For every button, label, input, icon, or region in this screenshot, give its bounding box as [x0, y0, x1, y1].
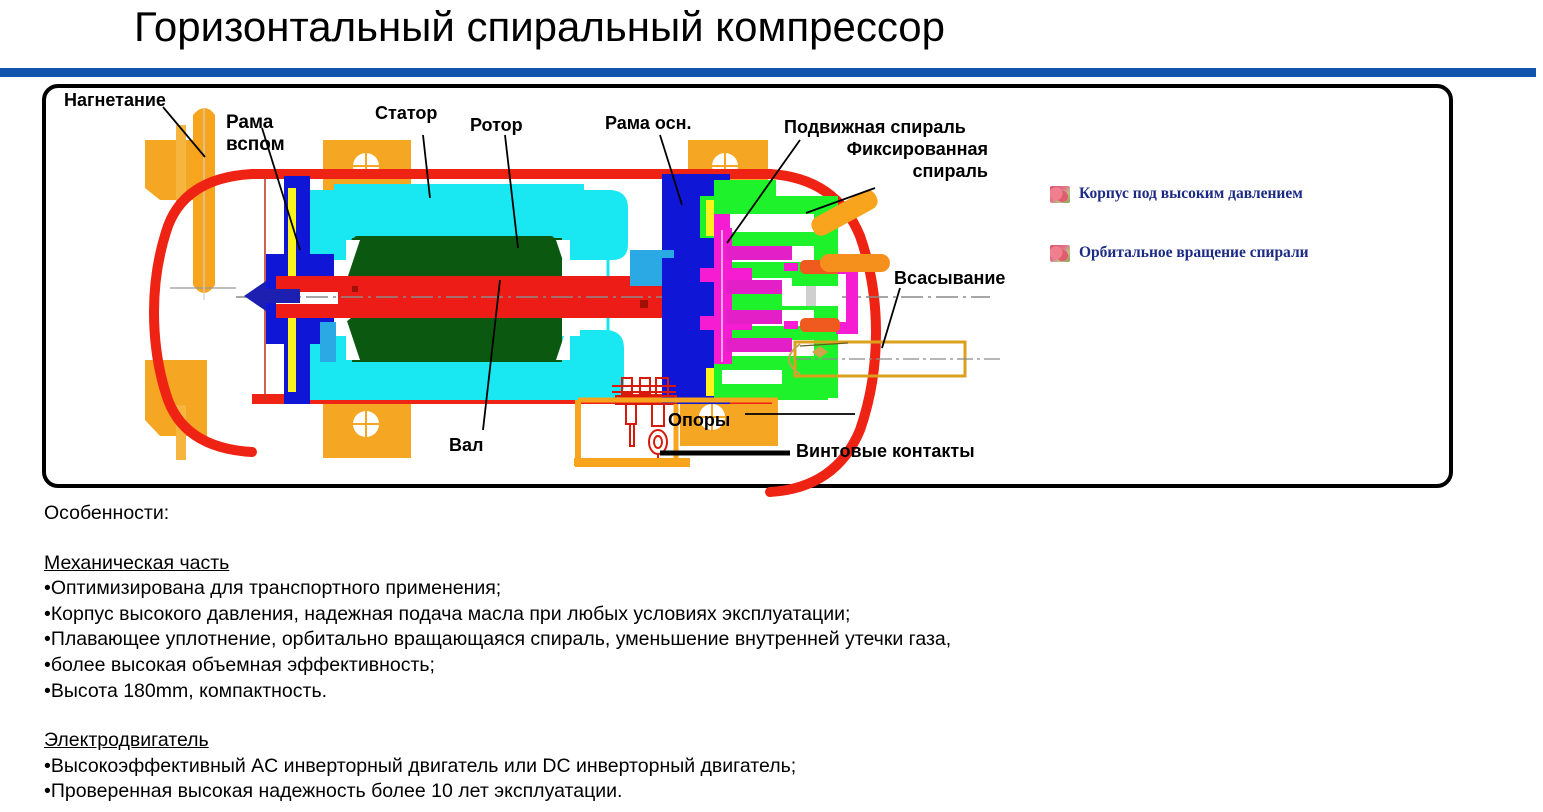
flower-bullet-icon: [1050, 245, 1070, 262]
label-supports: Опоры: [668, 410, 730, 430]
feature-item: •Оптимизирована для транспортного примен…: [44, 576, 1144, 602]
label-shaft: Вал: [449, 435, 483, 455]
slide-page: Горизонтальный спиральный компрессор: [0, 0, 1543, 812]
features-subheading-motor: Электродвигатель: [44, 728, 1144, 754]
legend-label-orbital-scroll-motion: Орбитальное вращение спирали: [1079, 244, 1309, 262]
features-subheading-mechanical: Механическая часть: [44, 551, 1144, 577]
label-aux-frame-line2: вспом: [226, 134, 285, 155]
label-main-frame: Рама осн.: [605, 113, 692, 133]
legend-label-high-pressure-shell: Корпус под высоким давлением: [1079, 185, 1303, 203]
label-discharge: Нагнетание: [64, 90, 166, 110]
page-title: Горизонтальный спиральный компрессор: [134, 0, 1334, 58]
feature-item: •Плавающее уплотнение, орбитально вращаю…: [44, 627, 1144, 653]
label-aux-frame-line1: Рама: [226, 112, 273, 133]
spacer: [44, 527, 1144, 551]
legend-item-orbital-scroll-motion: Орбитальное вращение спирали: [1050, 244, 1309, 262]
label-stator: Статор: [375, 103, 437, 123]
label-screw-contacts: Винтовые контакты: [796, 441, 975, 461]
label-rotor: Ротор: [470, 115, 523, 135]
features-block: Особенности: Механическая часть •Оптимиз…: [44, 501, 1144, 805]
label-suction: Всасывание: [894, 268, 1005, 288]
feature-item: •более высокая объемная эффективность;: [44, 653, 1144, 679]
feature-item: •Высота 180mm, компактность.: [44, 679, 1144, 705]
title-underline-bar: [0, 68, 1536, 77]
label-orbiting-scroll: Подвижная спираль: [784, 117, 966, 137]
spacer: [44, 704, 1144, 728]
label-fixed-scroll-line2: спираль: [742, 161, 988, 181]
legend-item-high-pressure-shell: Корпус под высоким давлением: [1050, 185, 1303, 203]
feature-item: •Корпус высокого давления, надежная пода…: [44, 602, 1144, 628]
feature-item: •Высокоэффективный AC инверторный двигат…: [44, 754, 1144, 780]
feature-item: •Проверенная высокая надежность более 10…: [44, 779, 1144, 805]
label-fixed-scroll-line1: Фиксированная: [742, 139, 988, 159]
flower-bullet-icon: [1050, 186, 1070, 203]
features-heading: Особенности:: [44, 501, 1144, 527]
